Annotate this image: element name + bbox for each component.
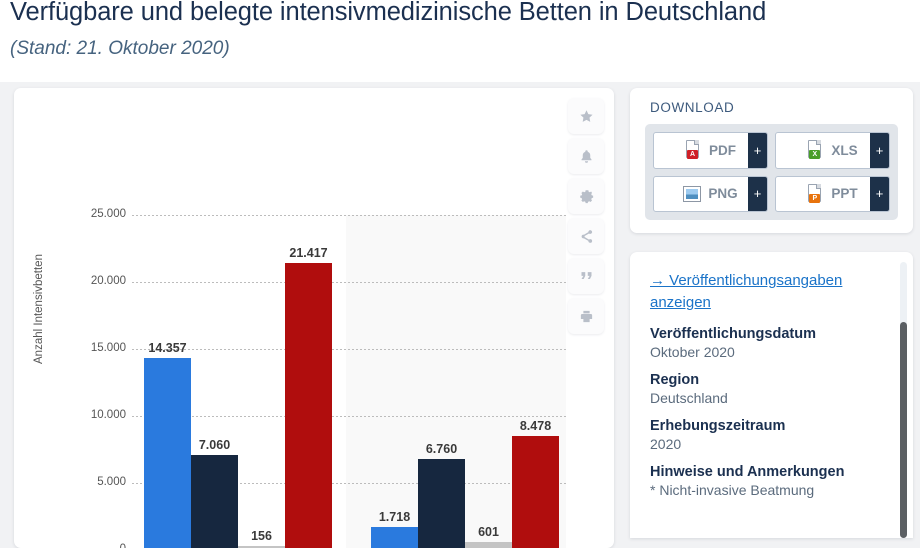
page-title: Verfügbare und belegte intensivmedizinis…: [10, 0, 766, 27]
pdf-file-icon: A: [685, 140, 702, 160]
ppt-file-icon: P: [807, 184, 824, 204]
bar[interactable]: [144, 358, 191, 548]
metadata-key: Region: [650, 372, 875, 388]
y-tick-label: 25.000: [56, 208, 126, 220]
gridline: [132, 416, 566, 417]
print-icon[interactable]: [568, 298, 604, 334]
metadata-value: Deutschland: [650, 390, 875, 406]
download-label: PDF: [709, 143, 736, 158]
metadata-key: Erhebungszeitraum: [650, 418, 875, 434]
metadata-scrollbar[interactable]: [900, 262, 907, 538]
download-heading: DOWNLOAD: [650, 100, 734, 115]
download-xls-button[interactable]: XXLS+: [775, 132, 890, 169]
chart-action-rail: [568, 98, 606, 334]
page-header: Verfügbare und belegte intensivmedizinis…: [0, 0, 920, 82]
png-file-icon: [683, 186, 701, 202]
scrollbar-thumb[interactable]: [900, 322, 907, 538]
metadata-panel: → Veröffentlichungsangaben anzeigen Verö…: [630, 252, 913, 538]
bar-value-label: 21.417: [285, 246, 332, 260]
favorite-icon[interactable]: [568, 98, 604, 134]
gridline: [132, 349, 566, 350]
xls-file-icon: X: [807, 140, 824, 160]
y-tick-label: 0: [56, 543, 126, 548]
download-expand-button[interactable]: +: [748, 133, 767, 168]
metadata-key: Hinweise und Anmerkungen: [650, 464, 875, 480]
citation-icon[interactable]: [568, 258, 604, 294]
bar-value-label: 1.718: [371, 510, 418, 524]
download-panel: DOWNLOAD APDF+XXLS+PNG+PPPT+: [630, 88, 913, 233]
metadata-value: 2020: [650, 436, 875, 452]
y-tick-label: 20.000: [56, 275, 126, 287]
publication-details-link[interactable]: → Veröffentlichungsangaben anzeigen: [650, 270, 875, 314]
bar[interactable]: [512, 436, 559, 548]
gridline: [132, 282, 566, 283]
y-tick-label: 5.000: [56, 476, 126, 488]
download-expand-button[interactable]: +: [870, 133, 889, 168]
metadata-fields: VeröffentlichungsdatumOktober 2020Region…: [650, 326, 875, 498]
download-pdf-button[interactable]: APDF+: [653, 132, 768, 169]
bar-value-label: 7.060: [191, 438, 238, 452]
bar-value-label: 6.760: [418, 442, 465, 456]
y-axis-title: Anzahl Intensivbetten: [33, 229, 45, 389]
bar-value-label: 14.357: [144, 341, 191, 355]
metadata-value: Oktober 2020: [650, 344, 875, 360]
metadata-value: * Nicht-invasive Beatmung: [650, 482, 875, 498]
y-tick-label: 15.000: [56, 342, 126, 354]
download-label: PNG: [708, 186, 737, 201]
chart-card: Anzahl Intensivbetten 05.00010.00015.000…: [14, 88, 614, 548]
bar-chart[interactable]: Anzahl Intensivbetten 05.00010.00015.000…: [14, 88, 614, 548]
bar[interactable]: [418, 459, 465, 548]
page-subtitle: (Stand: 21. Oktober 2020): [10, 38, 230, 60]
download-expand-button[interactable]: +: [748, 177, 767, 212]
bar[interactable]: [371, 527, 418, 548]
bar-value-label: 8.478: [512, 419, 559, 433]
metadata-key: Veröffentlichungsdatum: [650, 326, 875, 342]
download-ppt-button[interactable]: PPPT+: [775, 176, 890, 213]
bar-value-label: 156: [238, 529, 285, 543]
notify-icon[interactable]: [568, 138, 604, 174]
settings-icon[interactable]: [568, 178, 604, 214]
gridline: [132, 215, 566, 216]
download-expand-button[interactable]: +: [870, 177, 889, 212]
y-axis-ticks: 05.00010.00015.00020.00025.000: [50, 88, 126, 548]
download-png-button[interactable]: PNG+: [653, 176, 768, 213]
download-button-grid: APDF+XXLS+PNG+PPPT+: [645, 124, 898, 220]
bar[interactable]: [465, 542, 512, 548]
bar-value-label: 601: [465, 525, 512, 539]
bar[interactable]: [285, 263, 332, 548]
y-tick-label: 10.000: [56, 409, 126, 421]
download-label: XLS: [831, 143, 857, 158]
share-icon[interactable]: [568, 218, 604, 254]
bar[interactable]: [191, 455, 238, 548]
download-label: PPT: [831, 186, 857, 201]
